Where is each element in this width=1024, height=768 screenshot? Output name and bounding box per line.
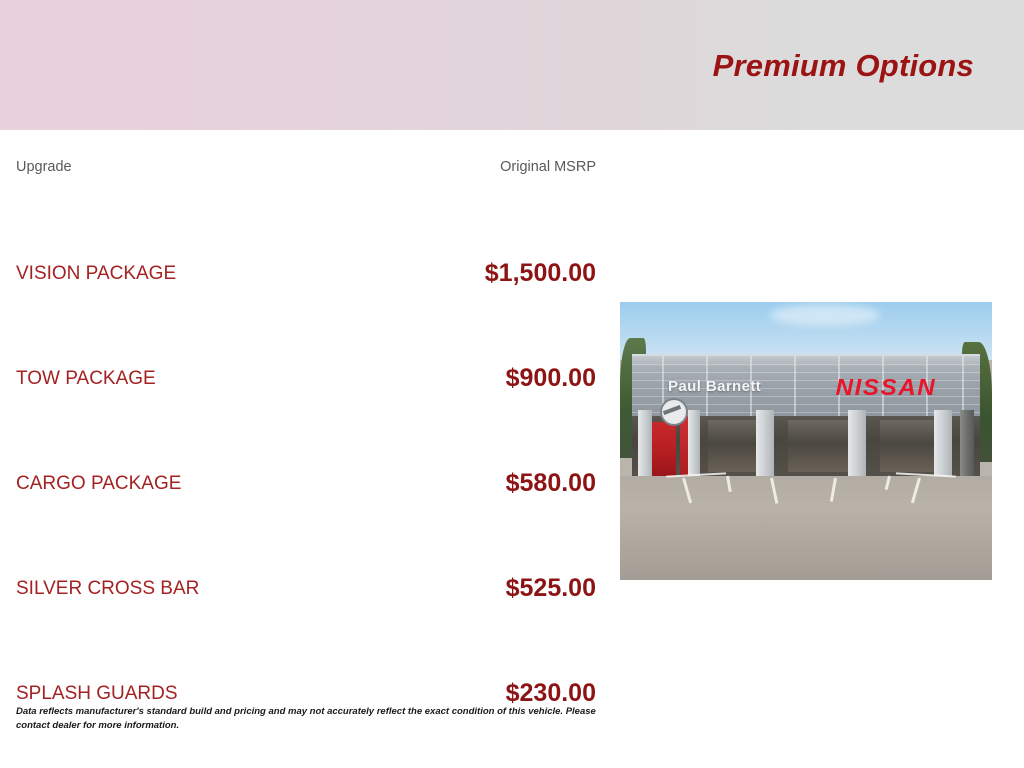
table-row: CARGO PACKAGE $580.00 — [0, 388, 620, 493]
premium-options-table: Upgrade Original MSRP VISION PACKAGE $1,… — [0, 130, 620, 703]
option-price: $230.00 — [0, 679, 596, 708]
table-row: SILVER CROSS BAR $525.00 — [0, 493, 620, 598]
column-header-original-msrp: Original MSRP — [0, 159, 596, 175]
photo-pillar — [848, 410, 866, 478]
disclaimer-text: Data reflects manufacturer's standard bu… — [16, 705, 616, 733]
photo-pillar — [756, 410, 774, 478]
photo-parking-lot — [620, 476, 992, 580]
table-column-headers: Upgrade Original MSRP — [0, 130, 620, 178]
dealership-photo: Paul Barnett NISSAN — [620, 302, 992, 580]
photo-cloud — [770, 304, 880, 326]
photo-pillar — [688, 410, 700, 478]
photo-red-entrance-door — [650, 422, 676, 480]
page-header: Premium Options — [0, 0, 1024, 130]
photo-sky — [620, 302, 992, 360]
photo-pillar — [934, 410, 952, 478]
photo-pillar — [638, 410, 652, 478]
photo-dealer-name: Paul Barnett — [668, 378, 761, 395]
table-row: SPLASH GUARDS $230.00 — [0, 598, 620, 703]
page-title: Premium Options — [713, 48, 974, 84]
photo-red-panel — [680, 416, 688, 480]
photo-pillar — [960, 410, 974, 478]
photo-brand-logo-text: NISSAN — [836, 374, 937, 401]
table-row: TOW PACKAGE $900.00 — [0, 283, 620, 388]
table-row: VISION PACKAGE $1,500.00 — [0, 178, 620, 283]
nissan-emblem-icon — [660, 398, 688, 426]
